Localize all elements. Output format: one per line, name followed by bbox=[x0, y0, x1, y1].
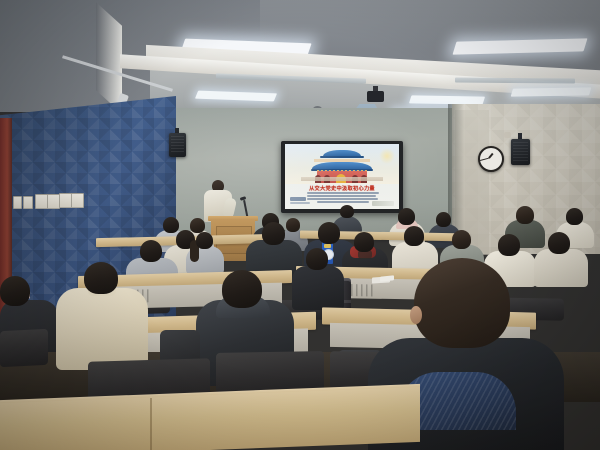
light-switch-6[interactable] bbox=[71, 193, 84, 208]
gate-plaza-ground bbox=[301, 177, 383, 181]
projection-screen-surface: 从交大党史中汲取初心力量 bbox=[285, 144, 399, 209]
attendee-head-mid-1 bbox=[140, 240, 162, 262]
slide-title: 从交大党史中汲取初心力量 bbox=[285, 185, 399, 192]
attendee-body-cream-jacket bbox=[56, 288, 148, 370]
slide-body-text bbox=[307, 192, 379, 204]
attendee-head-far-9 bbox=[340, 205, 354, 218]
projector-icon bbox=[367, 91, 384, 102]
attendee-head-foreground bbox=[414, 258, 510, 348]
badge-crest bbox=[324, 244, 331, 248]
attendee-head-lanyard bbox=[318, 222, 340, 244]
lecture-hall-photo: 从交大党史中汲取初心力量 bbox=[0, 0, 600, 450]
attendee-head-mid-7 bbox=[404, 226, 424, 246]
attendee-head-black-hoodie bbox=[222, 270, 262, 308]
speaker-grill-left bbox=[171, 136, 184, 153]
attendee-head-cream-jacket bbox=[84, 262, 118, 294]
light-switch-2[interactable] bbox=[23, 196, 33, 209]
gate-roof-upper-edge bbox=[320, 156, 364, 158]
slide-body-line-2 bbox=[307, 195, 376, 197]
slide-logo-subtitle bbox=[290, 202, 310, 204]
attendee-head-front-left-edge bbox=[0, 276, 30, 306]
foreground-desk-seam bbox=[150, 398, 152, 450]
attendee-head-far-8 bbox=[566, 208, 583, 225]
ceiling-led-panel-5 bbox=[511, 87, 592, 96]
attendee-head-mid-8 bbox=[452, 230, 471, 249]
attendee-head-mid-10 bbox=[548, 232, 570, 254]
attendee-head-mid-3 bbox=[196, 232, 213, 249]
slide-signature-mark bbox=[372, 201, 394, 206]
attendee-head-far-2 bbox=[190, 218, 205, 233]
slide-body-line-1 bbox=[307, 192, 379, 194]
slide-sun-glow bbox=[379, 148, 395, 164]
attendee-head-far-6 bbox=[436, 212, 451, 227]
attendee-head-mid-9 bbox=[498, 234, 520, 256]
speaker-grill-right bbox=[513, 142, 528, 161]
attendee-head-far-1 bbox=[163, 217, 179, 233]
chair-front-center[interactable] bbox=[216, 351, 324, 393]
attendee-ear-foreground bbox=[410, 306, 422, 324]
attendee-head-front-5 bbox=[306, 248, 328, 270]
attendee-head-mid-6 bbox=[262, 222, 285, 245]
camera-icon bbox=[504, 132, 511, 138]
slide-body-line-4 bbox=[317, 201, 369, 203]
attendee-head-far-4 bbox=[286, 218, 300, 232]
attendee-body-front-5 bbox=[292, 266, 344, 310]
light-switch-1[interactable] bbox=[13, 196, 22, 209]
slide-logo bbox=[290, 197, 306, 201]
attendee-body-mid-10 bbox=[534, 249, 588, 287]
chair-front-left-edge[interactable] bbox=[0, 329, 48, 368]
attendee-head-red-scarf bbox=[354, 232, 374, 252]
slide-body-line-3 bbox=[307, 198, 378, 200]
ceiling-cove-strip-2 bbox=[455, 77, 575, 83]
attendee-head-far-7 bbox=[516, 206, 534, 224]
attendee-head-far-5 bbox=[398, 208, 415, 225]
